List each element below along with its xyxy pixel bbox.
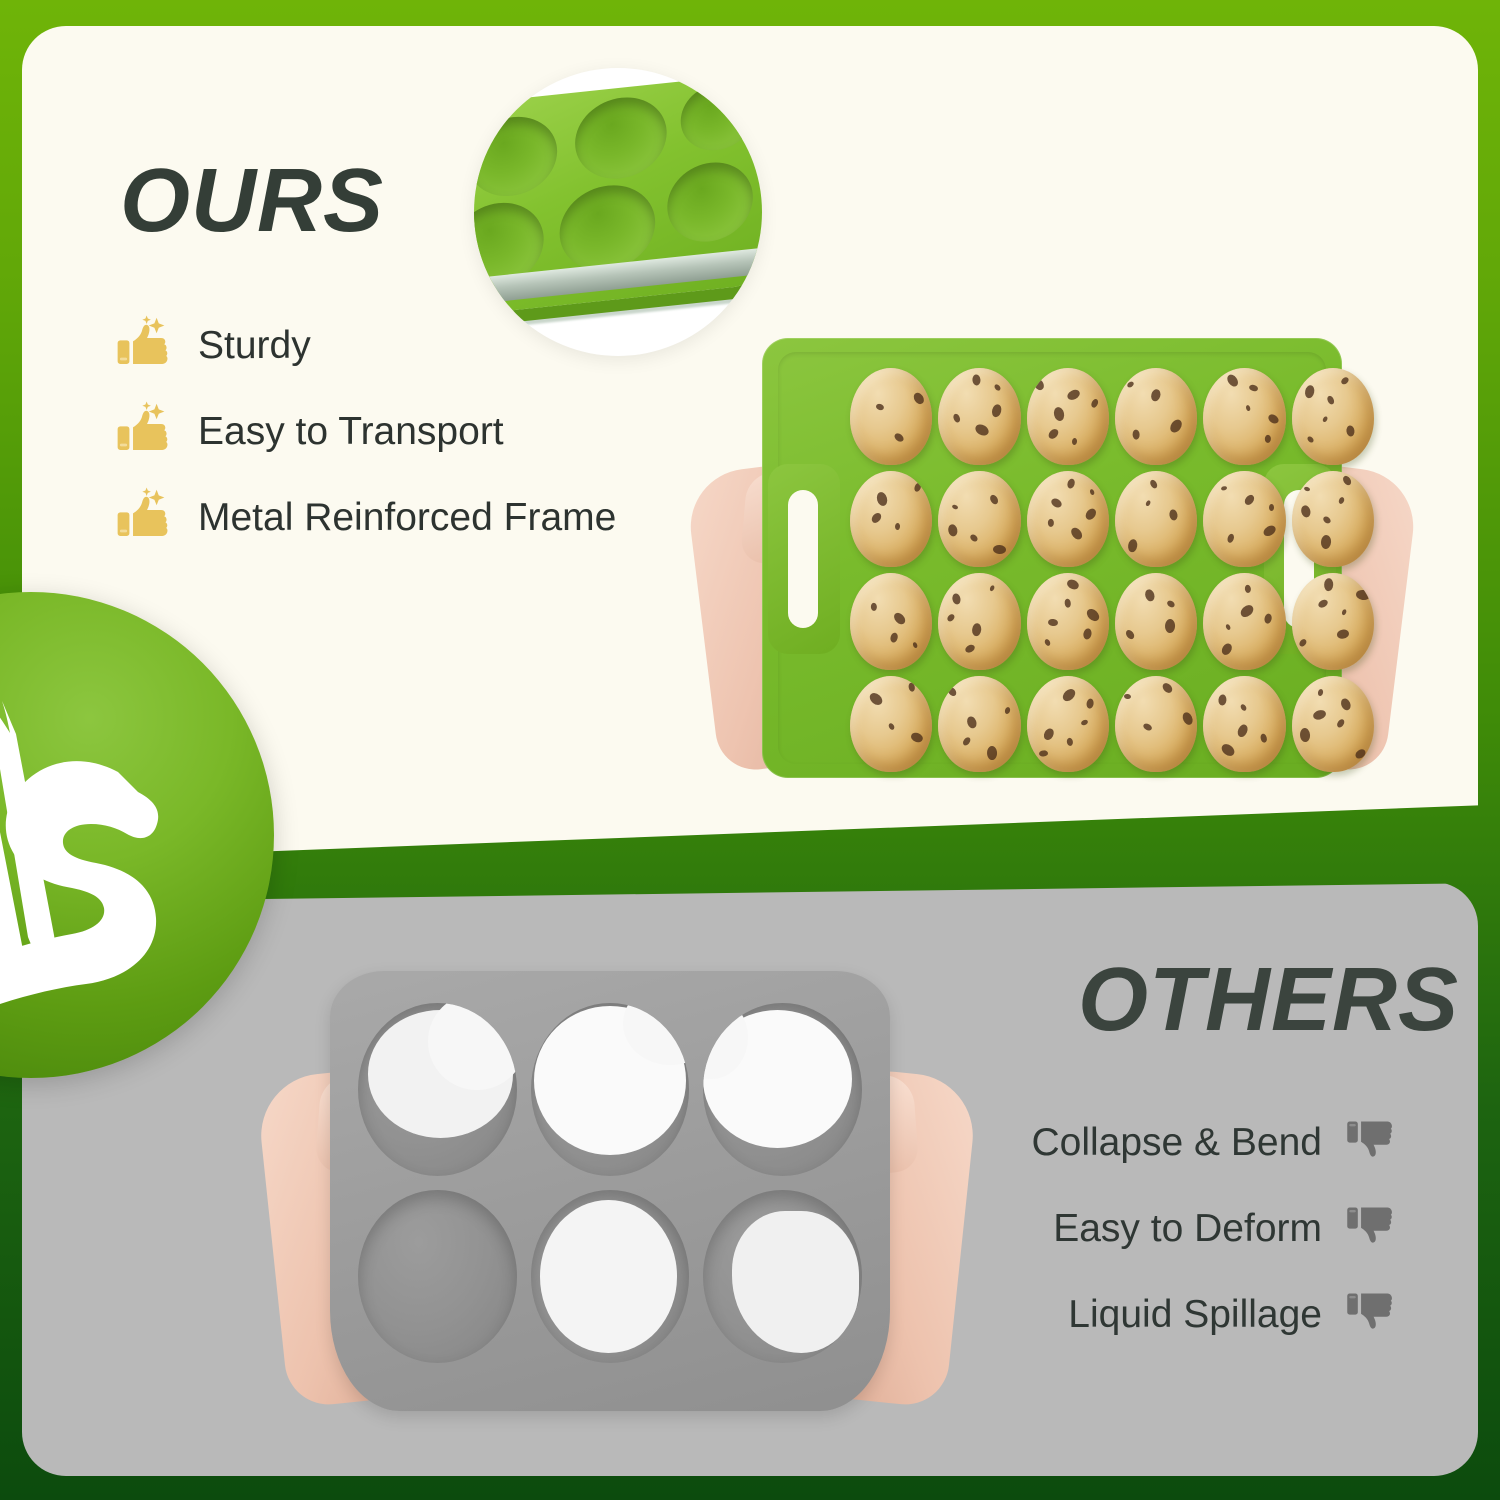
mold-cup <box>531 1003 690 1176</box>
muffin <box>938 368 1020 465</box>
thumbs-down-icon <box>1344 1115 1396 1172</box>
muffin <box>850 676 932 773</box>
muffin-grid <box>846 364 1378 776</box>
muffin <box>1115 368 1197 465</box>
others-feature-label: Collapse & Bend <box>1031 1121 1322 1165</box>
tray-handle-left <box>768 464 840 654</box>
muffin <box>1027 471 1109 568</box>
thumbs-down-icon <box>1344 1201 1396 1258</box>
muffin <box>1115 573 1197 670</box>
muffin <box>850 368 932 465</box>
ours-feature-item: Easy to Transport <box>114 389 734 475</box>
muffin <box>1292 573 1374 670</box>
others-feature-label: Easy to Deform <box>1053 1207 1322 1251</box>
muffin <box>1115 471 1197 568</box>
green-muffin-tray <box>762 338 1342 778</box>
thumbs-up-icon <box>114 315 172 378</box>
muffin <box>938 573 1020 670</box>
muffin <box>938 676 1020 773</box>
muffin <box>850 573 932 670</box>
others-feature-item: Liquid Spillage <box>776 1272 1396 1358</box>
ours-feature-label: Sturdy <box>198 324 311 368</box>
versus-badge <box>0 592 274 1078</box>
thumbs-up-icon <box>114 401 172 464</box>
mold-cup <box>358 1190 517 1363</box>
others-heading: OTHERS <box>1078 955 1459 1045</box>
muffin <box>1027 676 1109 773</box>
muffin <box>1203 676 1285 773</box>
ours-heading: OURS <box>120 156 384 246</box>
muffin <box>1292 368 1374 465</box>
ours-product-photo <box>702 326 1402 796</box>
mold-cup <box>531 1190 690 1363</box>
comparison-infographic: OURS Sturdy <box>0 0 1500 1500</box>
mold-cup <box>358 1003 517 1176</box>
ours-feature-label: Metal Reinforced Frame <box>198 496 616 540</box>
muffin <box>850 471 932 568</box>
others-feature-item: Easy to Deform <box>776 1186 1396 1272</box>
muffin <box>1027 573 1109 670</box>
metal-frame-inset-photo <box>474 68 762 356</box>
others-feature-list: Collapse & Bend Easy to Deform <box>776 1100 1396 1358</box>
thumbs-up-icon <box>114 487 172 550</box>
others-feature-item: Collapse & Bend <box>776 1100 1396 1186</box>
muffin <box>1203 471 1285 568</box>
muffin <box>1292 471 1374 568</box>
others-feature-label: Liquid Spillage <box>1068 1293 1322 1337</box>
muffin <box>1027 368 1109 465</box>
ours-feature-label: Easy to Transport <box>198 410 504 454</box>
muffin <box>1203 368 1285 465</box>
muffin <box>1115 676 1197 773</box>
muffin <box>1292 676 1374 773</box>
muffin <box>1203 573 1285 670</box>
ours-feature-item: Metal Reinforced Frame <box>114 475 734 561</box>
muffin <box>938 471 1020 568</box>
thumbs-down-icon <box>1344 1287 1396 1344</box>
